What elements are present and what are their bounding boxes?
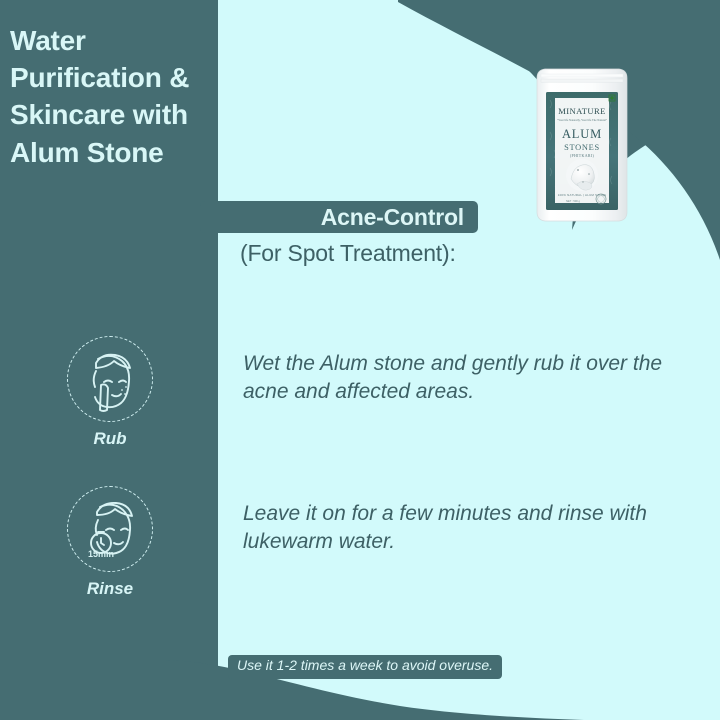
face-rub-stone-icon [67, 336, 153, 422]
step-1-label: Rub [62, 429, 158, 449]
step-2-label: Rinse [62, 579, 158, 599]
product-pouch-image: MINATURE "Your life Naturally, Your life… [533, 62, 631, 224]
footer-usage-note: Use it 1-2 times a week to avoid overuse… [228, 655, 502, 679]
pouch-svg: MINATURE "Your life Naturally, Your life… [533, 62, 631, 224]
page-title: Water Purification & Skincare with Alum … [10, 22, 220, 171]
face-rub-stone-glyph [68, 337, 154, 423]
timer-duration-label: 15min [88, 549, 114, 559]
stone-speck-2 [588, 173, 590, 175]
step-1-icon-block: Rub [62, 336, 158, 449]
stone-speck-3 [582, 181, 583, 182]
pouch-zip-seal [541, 79, 623, 82]
step-1-text: Wet the Alum stone and gently rub it ove… [243, 350, 663, 406]
product-tagline: "Your life Naturally, Your life The Natu… [557, 118, 607, 122]
poster-canvas: Water Purification & Skincare with Alum … [0, 0, 720, 720]
stone-speck-1 [577, 169, 579, 171]
section-subtitle: (For Spot Treatment): [240, 240, 456, 267]
product-brand: MINATURE [558, 106, 606, 116]
alum-stone-illustration [566, 159, 598, 191]
product-variant: (PHITKARI) [570, 153, 595, 158]
step-2-icon-block: 15min Rinse [62, 486, 158, 599]
section-title: Acne-Control [200, 204, 464, 231]
face-timer-rinse-icon: 15min [67, 486, 153, 572]
product-subname: STONES [564, 143, 600, 152]
face-timer-rinse-glyph: 15min [68, 487, 154, 573]
product-net-weight: NET : 500 g [566, 199, 580, 203]
product-name: ALUM [562, 127, 602, 141]
section-heading-banner: Acne-Control [200, 201, 478, 233]
step-2-text: Leave it on for a few minutes and rinse … [243, 500, 663, 556]
pouch-top-seal [541, 74, 623, 77]
